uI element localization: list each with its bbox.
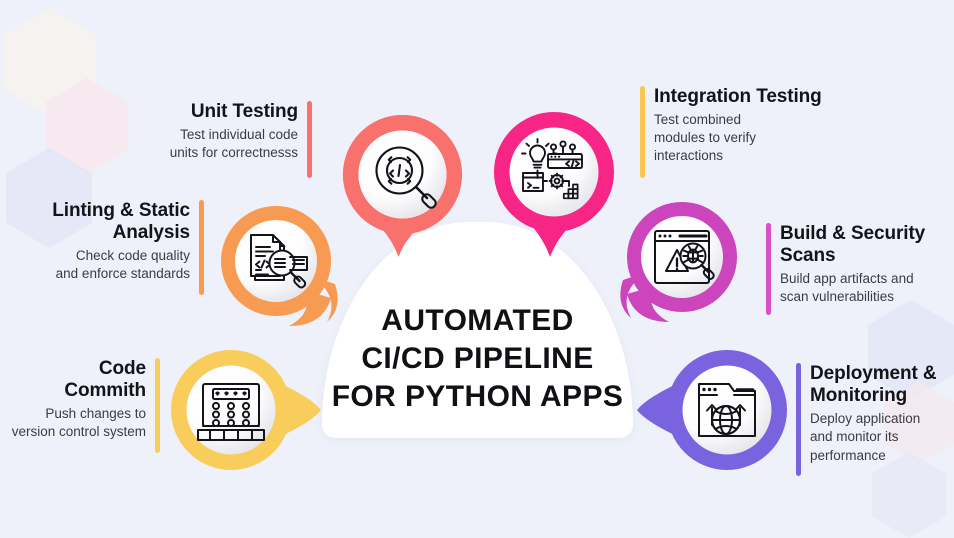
pin-unit-testing[interactable] xyxy=(341,113,464,258)
pin-deployment-monitoring[interactable] xyxy=(636,348,788,472)
title-line-2: CI/CD PIPELINE xyxy=(361,342,593,375)
page-title: AUTOMATEDCI/CD PIPELINEFOR PYTHON APPS xyxy=(332,302,624,415)
label-integration-testing: Integration Testing Test combinedmodules… xyxy=(640,86,850,166)
label-title-linting-l2: Analysis xyxy=(113,222,190,243)
pin-integration-testing[interactable] xyxy=(492,110,616,258)
label-desc-build-security-l1: Build app artifacts and xyxy=(780,271,914,286)
label-desc-integration-l3: interactions xyxy=(654,148,723,163)
label-desc-linting-l1: Check code quality xyxy=(76,248,190,263)
pin-shape-deployment xyxy=(636,348,788,472)
hex-pink-topleft xyxy=(46,78,128,174)
label-desc-deployment-l1: Deploy application xyxy=(810,411,920,426)
label-title-integration-testing: Integration Testing xyxy=(654,86,850,108)
label-title-code-commit: CodeCommith xyxy=(0,358,146,402)
pin-code-commit[interactable] xyxy=(170,348,322,472)
label-desc-unit-testing-l2: units for correctnesss xyxy=(170,145,298,160)
label-desc-linting-l2: and enforce standards xyxy=(56,266,190,281)
label-title-deployment-l1: Deployment & xyxy=(810,363,937,384)
infographic-canvas: AUTOMATEDCI/CD PIPELINEFOR PYTHON APPS xyxy=(0,0,954,537)
pin-shape-integration-testing xyxy=(492,110,616,258)
label-title-build-security-l1: Build & Security xyxy=(780,223,925,244)
pin-shape-code-commit xyxy=(170,348,322,472)
title-line-1: AUTOMATED xyxy=(381,304,573,337)
label-code-commit: CodeCommith Push changes toversion contr… xyxy=(0,358,160,442)
label-title-linting-l1: Linting & Static xyxy=(52,200,190,221)
label-title-unit-testing: Unit Testing xyxy=(124,101,298,123)
pin-shape-unit-testing xyxy=(341,113,464,258)
hex-grey-bottomright xyxy=(872,452,946,538)
label-title-build-security-l2: Scans xyxy=(780,245,835,266)
pin-shape-build-security xyxy=(601,200,741,332)
label-desc-deployment-l3: performance xyxy=(810,448,886,463)
label-linting-static-analysis: Linting & StaticAnalysis Check code qual… xyxy=(6,200,204,284)
pin-shape-linting xyxy=(219,204,357,332)
label-desc-unit-testing-l1: Test individual code xyxy=(180,127,298,142)
label-title-code-commit-l1: Code xyxy=(99,358,146,379)
label-title-deployment: Deployment &Monitoring xyxy=(810,363,954,407)
label-desc-deployment-l2: and monitor its xyxy=(810,429,899,444)
title-line-3: FOR PYTHON APPS xyxy=(332,380,624,413)
hex-cream-topleft xyxy=(4,8,96,116)
label-build-security-scans: Build & SecurityScans Build app artifact… xyxy=(766,223,954,307)
label-title-code-commit-l2: Commith xyxy=(64,380,146,401)
label-title-deployment-l2: Monitoring xyxy=(810,385,907,406)
label-deployment-monitoring: Deployment &Monitoring Deploy applicatio… xyxy=(796,363,954,465)
label-unit-testing: Unit Testing Test individual codeunits f… xyxy=(124,101,312,162)
label-desc-integration-l1: Test combined xyxy=(654,112,741,127)
label-desc-build-security-l2: scan vulnerabilities xyxy=(780,289,894,304)
pin-linting-static-analysis[interactable] xyxy=(219,204,357,332)
label-title-build-security: Build & SecurityScans xyxy=(780,223,954,267)
label-desc-integration-l2: modules to verify xyxy=(654,130,756,145)
label-desc-code-commit-l2: version control system xyxy=(12,424,146,439)
pin-build-security-scans[interactable] xyxy=(601,200,741,332)
label-title-linting: Linting & StaticAnalysis xyxy=(6,200,190,244)
label-desc-code-commit-l1: Push changes to xyxy=(45,406,146,421)
